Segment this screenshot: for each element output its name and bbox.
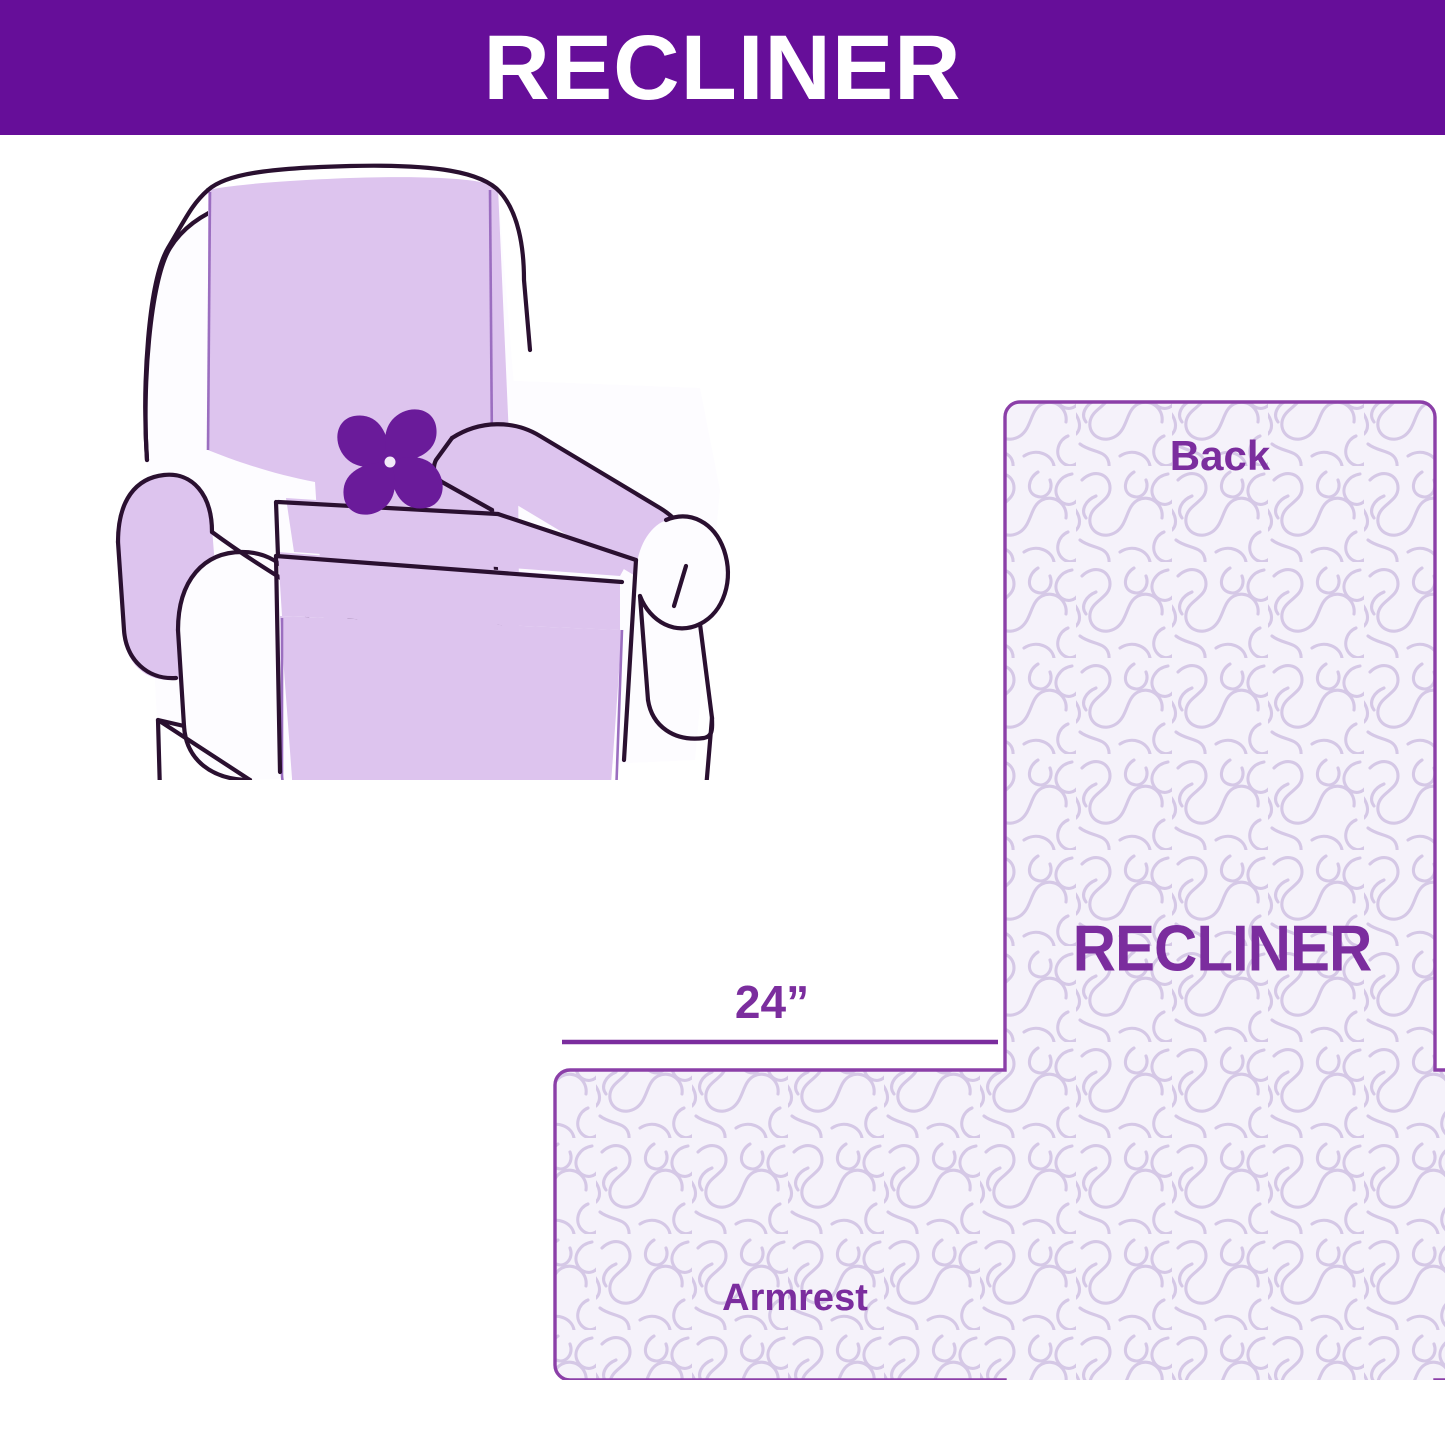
pinwheel-fan-logo [337, 409, 442, 514]
label-recliner-center: RECLINER [1073, 912, 1372, 985]
label-armrest-left: Armrest [722, 1277, 868, 1319]
label-back: Back [1170, 432, 1271, 479]
dim-label-24-top: 24” [735, 976, 809, 1028]
cover-piece [555, 402, 1445, 1380]
header-banner: RECLINER [0, 0, 1445, 135]
product-dimension-infographic: RECLINER .ol { fill:none; stroke:#2a1030… [0, 0, 1445, 1445]
page-title: RECLINER [483, 22, 961, 114]
cover-dimension-diagram: .cov { fill:url(#quiltPattern); stroke:#… [500, 370, 1445, 1380]
